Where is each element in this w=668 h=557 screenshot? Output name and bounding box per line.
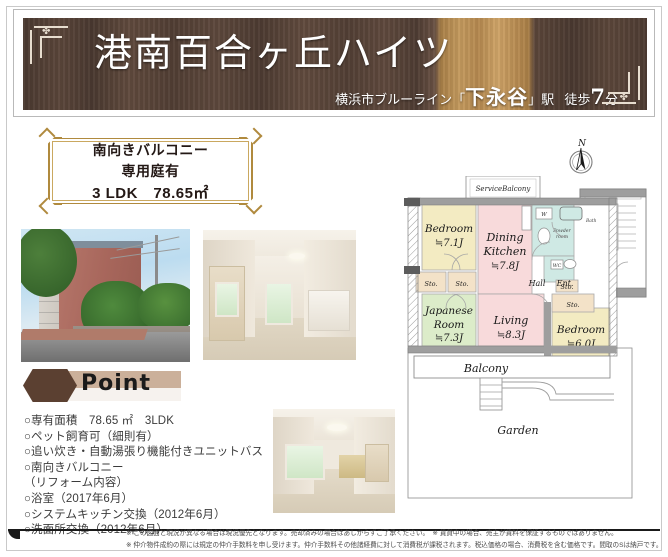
label-bedroom-2: Bedroom [556,324,605,336]
toilet-icon [564,260,576,269]
photo-tree [138,283,190,331]
photo-window [215,282,239,317]
label-service-balcony: ServiceBalcony [476,185,532,193]
exterior-photo[interactable] [21,229,190,362]
label-living: Living [493,314,529,327]
floorplan[interactable]: ServiceBalcony [404,176,656,514]
compass-north-label: N [577,139,587,149]
point-bullet-item: ○浴室（2017年6月） [24,492,324,508]
floorplan-drawing: ServiceBalcony [404,176,656,514]
point-heading: Point [81,371,151,396]
walk-label: 徒歩 [564,93,590,108]
point-bullet-item: ○追い炊き・自動湯張り機能付きユニットバス [24,445,324,461]
photo-room [203,230,356,360]
label-balcony: Balcony [463,362,509,375]
label-wc: WC [553,263,562,269]
room-bedroom-1 [422,204,476,270]
point-section-header: Point [23,369,181,404]
label-entrance: Ent. [556,279,574,288]
photo-kitchen-counter [308,290,350,331]
label-living-size: ≒8.3J [497,330,526,341]
station-name: 下永谷 [465,85,528,109]
photo-ceiling-light [327,424,347,431]
point-bullet-item: ○専有面積 78.65 ㎡ 3LDK [24,414,324,430]
photo-sliding-door [365,444,389,481]
label-japanese-room-size: ≒7.3J [435,333,464,344]
floral-ornament-icon: ✤ [620,93,628,103]
label-garden: Garden [497,424,538,437]
compass-rose: N [562,136,602,178]
bathtub-icon [560,207,582,220]
floral-ornament-icon: ✤ [42,27,50,37]
label-hall: Hall [528,279,546,288]
label-storage-2: Sto. [456,280,469,288]
sink-icon [538,228,550,244]
ldk-interior-photo[interactable] [203,230,356,360]
feature-line-2: 専用庭有 [122,161,180,181]
compass-icon: N [562,136,602,178]
label-bath: Bath [585,219,597,224]
corner-ornament-bottom-right: ✤ [602,66,640,104]
feature-line-1: 南向きバルコニー [93,140,209,160]
disclaimer-line-2: ※ 仲介物件成約の際には規定の仲介手数料を申し受けます。仲介手数料その他諸経費に… [126,539,662,549]
photo-curb [21,329,148,340]
property-title: 港南百合ヶ丘ハイツ [94,30,534,76]
label-japanese-room-2: Room [433,319,465,331]
label-dining: Dining [485,231,523,244]
feature-plate: 南向きバルコニー 専用庭有 3 LDK 78.65㎡ [48,137,253,205]
label-dk-size: ≒7.8J [491,261,520,272]
label-kitchen: Kitchen [483,245,527,258]
label-bedroom-1: Bedroom [424,223,473,235]
label-storage-4: Sto. [567,301,580,309]
kitchen-unit [522,206,531,230]
station-access-line: 横浜市ブルーライン「下永谷」駅 徒歩7分 [335,81,618,110]
label-bedroom-1-size: ≒7.1J [435,238,464,249]
corner-ornament-top-left: ✤ [30,26,68,64]
access-mid: 」駅 [528,93,554,108]
point-hexagon-badge [23,369,77,402]
label-powder-room-2: room [556,235,569,240]
point-bullet-item: ○ペット飼育可（細則有） [24,430,324,446]
disclaimer-line-1: ※ この図面と現況が異なる場合は現況優先となります。売却済みの場合はあしからずご… [126,527,618,537]
flyer-page: ✤ ✤ 港南百合ヶ丘ハイツ 横浜市ブルーライン「下永谷」駅 徒歩7分 南向きバル… [0,0,668,557]
footer: ※ この図面と現況が異なる場合は現況優先となります。売却済みの場合はあしからずご… [0,521,668,557]
feature-line-3: 3 LDK 78.65㎡ [92,182,209,203]
point-bullet-item: （リフォーム内容） [24,476,324,492]
access-prefix: 横浜市ブルーライン「 [335,93,465,108]
header: ✤ ✤ 港南百合ヶ丘ハイツ 横浜市ブルーライン「下永谷」駅 徒歩7分 [13,9,655,117]
point-bullet-item: ○南向きバルコニー [24,461,324,477]
label-storage-1: Sto. [425,280,438,288]
label-japanese-room: Japanese [423,305,473,317]
photo-window [265,282,293,325]
